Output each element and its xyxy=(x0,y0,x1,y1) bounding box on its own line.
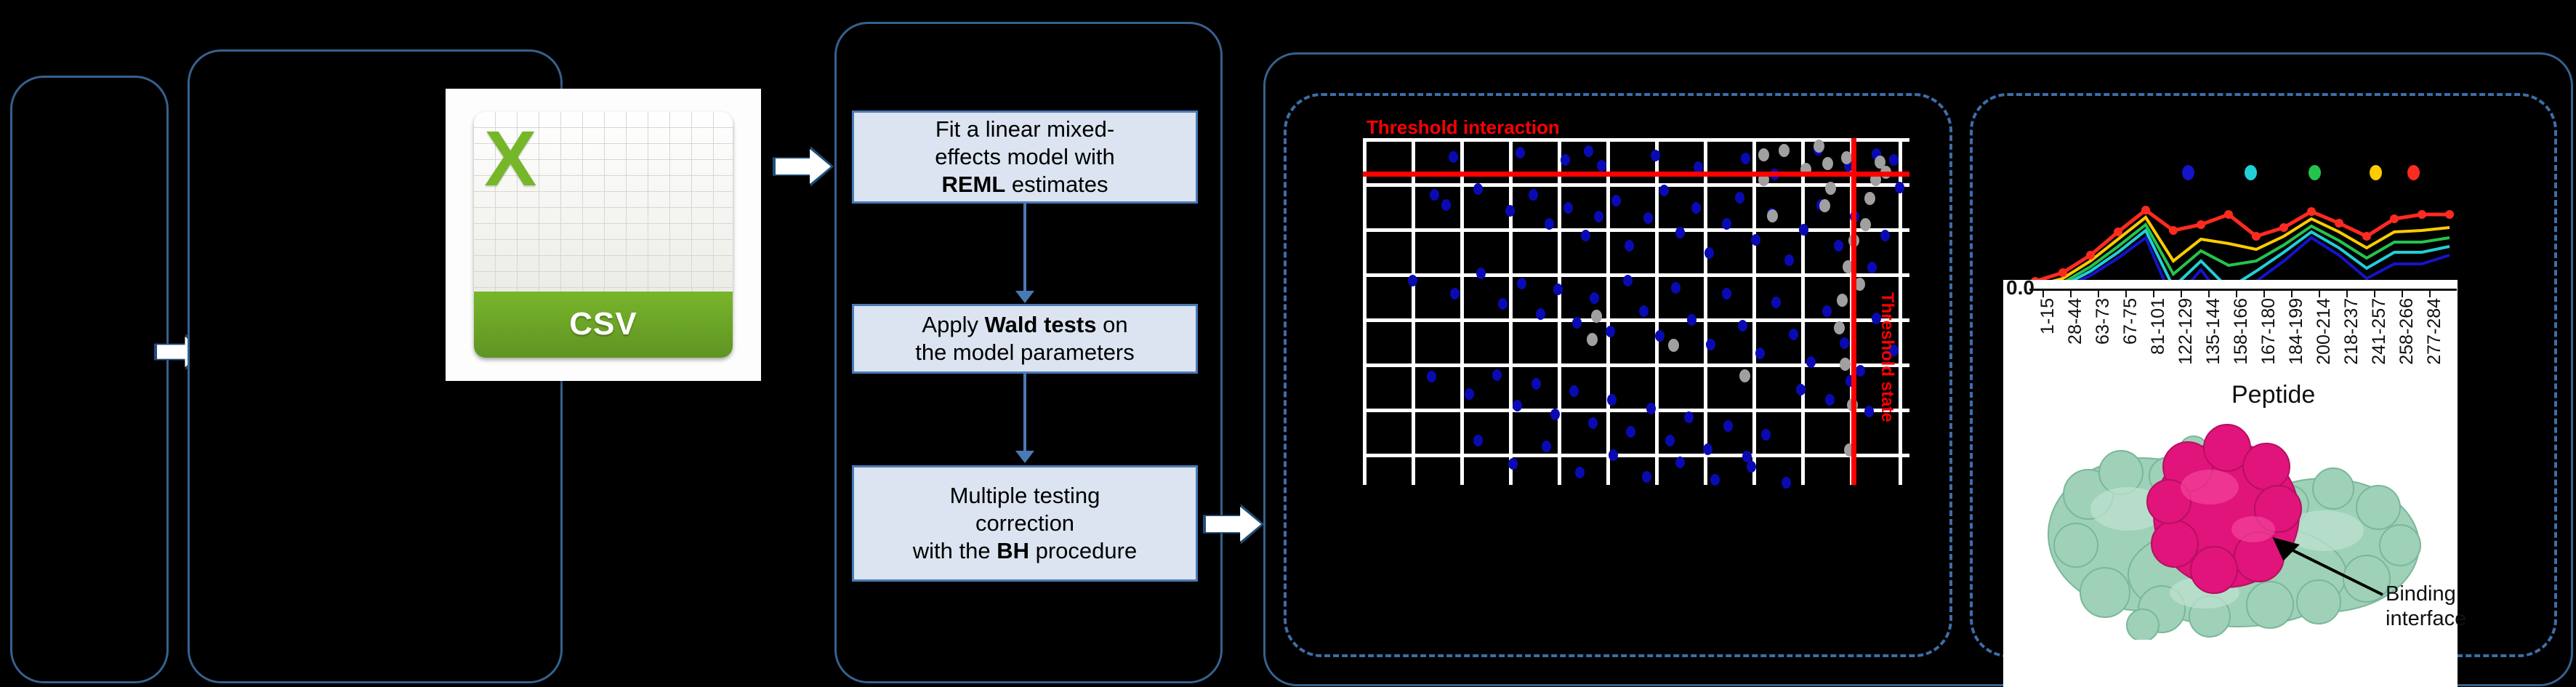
step-bh-line2: correction xyxy=(975,510,1074,536)
data-point xyxy=(1450,288,1460,300)
y-axis-zero-tick: 0.0 xyxy=(2006,276,2034,300)
data-point xyxy=(1755,347,1765,359)
data-point xyxy=(1563,202,1573,214)
axis-tick xyxy=(2402,289,2403,297)
peptide-tick-label: 28-44 xyxy=(2065,298,2086,345)
data-point xyxy=(1747,461,1756,473)
data-point xyxy=(1606,326,1615,337)
data-point xyxy=(1575,467,1585,478)
data-point xyxy=(1834,240,1843,252)
data-point-significant xyxy=(1591,310,1602,323)
data-point xyxy=(1771,297,1781,308)
data-point xyxy=(1517,278,1526,289)
peptide-tick-label: 135-144 xyxy=(2203,298,2224,365)
data-point xyxy=(1706,339,1715,350)
data-point-significant xyxy=(1840,358,1851,371)
data-point xyxy=(1784,254,1794,266)
axis-tick xyxy=(2236,289,2237,297)
data-point-significant xyxy=(1587,333,1598,346)
data-point xyxy=(1782,477,1791,489)
data-point xyxy=(1659,185,1669,196)
peptide-tick-label: 277-284 xyxy=(2424,298,2445,365)
legend-dot-4 xyxy=(2370,165,2382,180)
binding-interface-line2: interface xyxy=(2386,607,2466,630)
data-point xyxy=(1572,317,1582,329)
data-point-significant xyxy=(1837,294,1848,307)
step-bh-bold: BH xyxy=(997,538,1029,563)
data-point xyxy=(1626,426,1635,438)
data-point xyxy=(1473,183,1483,195)
axis-tick xyxy=(2208,289,2210,297)
data-point xyxy=(1542,441,1551,452)
data-point xyxy=(1561,154,1570,166)
data-point-significant xyxy=(1819,199,1830,212)
data-point xyxy=(1529,189,1538,201)
data-point xyxy=(1516,147,1525,158)
data-point xyxy=(1806,356,1816,368)
peptide-tick-label: 167-180 xyxy=(2258,298,2279,365)
axis-tick xyxy=(2070,289,2072,297)
data-point xyxy=(1449,151,1458,163)
axis-tick xyxy=(2319,289,2320,297)
data-point xyxy=(1867,262,1877,273)
input-stage xyxy=(10,76,169,683)
step-bh-line1: Multiple testing xyxy=(950,483,1100,508)
data-point xyxy=(1675,227,1685,238)
csv-format-band: CSV xyxy=(474,292,733,358)
data-point xyxy=(1889,154,1899,166)
peptide-tick-label: 200-214 xyxy=(2314,298,2335,365)
data-point xyxy=(1789,329,1798,340)
data-point xyxy=(1735,192,1744,204)
data-point xyxy=(1594,211,1603,222)
data-point xyxy=(1473,435,1483,446)
csv-file-icon: X CSV xyxy=(446,89,761,381)
data-point xyxy=(1741,153,1750,164)
data-point-significant xyxy=(1758,148,1769,161)
data-point-significant xyxy=(1767,209,1778,222)
binding-interface-label: Binding interface xyxy=(2386,582,2466,631)
step-wald-line2: the model parameters xyxy=(915,340,1135,365)
data-point xyxy=(1408,275,1417,286)
csv-format-label: CSV xyxy=(569,306,637,342)
data-point xyxy=(1671,282,1681,294)
data-point-significant xyxy=(1841,151,1852,164)
data-point-significant xyxy=(1834,321,1845,334)
data-point xyxy=(1796,384,1806,395)
data-point xyxy=(1687,314,1696,326)
peptide-tick-label: 158-166 xyxy=(2231,298,2252,365)
data-point-significant xyxy=(1668,339,1679,352)
data-point xyxy=(1581,230,1590,241)
peptide-tick-label: 241-257 xyxy=(2369,298,2390,365)
step-wald[interactable]: Apply Wald tests on the model parameters xyxy=(852,304,1198,374)
data-point xyxy=(1722,218,1731,230)
legend-dot-5 xyxy=(2407,165,2420,180)
threshold-interaction-line xyxy=(1363,172,1909,177)
axis-tick xyxy=(2429,289,2431,297)
data-point xyxy=(1508,458,1518,470)
data-point xyxy=(1590,292,1599,304)
data-point-significant xyxy=(1739,369,1750,382)
threshold-state-label: Threshold state xyxy=(1877,292,1897,422)
connector-model-to-wald xyxy=(1023,204,1026,297)
axis-tick xyxy=(2153,289,2154,297)
axis-tick xyxy=(2346,289,2348,297)
data-point xyxy=(1722,288,1731,300)
step-bh-line3: with the xyxy=(913,538,997,563)
axis-tick xyxy=(2125,289,2127,297)
peptide-tick-label: 81-101 xyxy=(2148,298,2169,355)
data-point xyxy=(1825,394,1835,406)
step-bh-line4: procedure xyxy=(1029,538,1137,563)
data-point xyxy=(1665,435,1675,446)
data-point-significant xyxy=(1864,192,1875,205)
peptide-tick-label: 67-75 xyxy=(2120,298,2141,345)
data-point xyxy=(1880,230,1890,241)
data-point xyxy=(1691,202,1701,214)
step-bh-text: Multiple testing correction with the BH … xyxy=(913,482,1137,564)
data-point xyxy=(1441,199,1451,211)
binding-interface-line1: Binding xyxy=(2386,582,2456,606)
data-point xyxy=(1427,371,1436,382)
peptide-tick-label: 1-15 xyxy=(2037,298,2058,334)
step-wald-on: on xyxy=(1096,312,1127,337)
data-point xyxy=(1584,145,1593,157)
step-model-line2: effects model with xyxy=(935,144,1115,169)
data-point xyxy=(1799,224,1808,236)
legend-dot-2 xyxy=(2245,165,2257,180)
step-model-text: Fit a linear mixed- effects model with R… xyxy=(935,116,1115,198)
data-point xyxy=(1513,400,1522,411)
data-point-significant xyxy=(1814,140,1824,153)
data-point xyxy=(1642,471,1651,483)
arrow-model-to-results xyxy=(1203,503,1264,545)
data-point xyxy=(1651,150,1660,161)
peptide-x-axis xyxy=(2029,289,2457,291)
axis-tick xyxy=(2263,289,2265,297)
data-point xyxy=(1895,182,1904,193)
peptide-tick-label: 63-73 xyxy=(2093,298,2114,345)
arrow-body xyxy=(1206,506,1261,542)
data-point xyxy=(1738,320,1747,332)
connector-arrowhead-bh xyxy=(1015,451,1034,463)
data-point xyxy=(1553,284,1563,295)
data-point xyxy=(1703,443,1712,455)
data-point xyxy=(1684,411,1694,423)
data-point xyxy=(1465,388,1474,400)
data-point xyxy=(1646,403,1656,414)
data-point xyxy=(1476,268,1486,279)
step-model-reml: REML xyxy=(941,172,1005,197)
data-point xyxy=(1856,365,1865,377)
data-point xyxy=(1704,247,1714,259)
arrow-body xyxy=(776,148,831,185)
data-point xyxy=(1492,369,1502,381)
data-point xyxy=(1607,394,1617,406)
data-point xyxy=(1569,385,1579,397)
excel-x-icon: X xyxy=(484,122,536,194)
data-point-significant xyxy=(1825,182,1836,195)
threshold-state-line xyxy=(1851,138,1856,485)
connector-arrowhead-wald xyxy=(1015,291,1034,303)
data-point xyxy=(1498,298,1508,310)
data-point xyxy=(1505,205,1515,217)
step-wald-bold: Wald tests xyxy=(985,312,1097,337)
axis-tick xyxy=(2374,289,2375,297)
legend-dot-3 xyxy=(2309,165,2321,180)
data-point-significant xyxy=(1860,218,1871,231)
data-point xyxy=(1710,474,1720,486)
data-point xyxy=(1430,189,1439,201)
data-point xyxy=(1643,212,1653,224)
threshold-interaction-label: Threshold interaction xyxy=(1367,116,1560,139)
csv-tile: X CSV xyxy=(474,112,733,358)
data-point xyxy=(1623,275,1633,286)
data-point xyxy=(1822,305,1832,317)
volcano-plot xyxy=(1363,138,1909,485)
data-point xyxy=(1588,417,1598,429)
data-point xyxy=(1675,457,1685,468)
axis-tick xyxy=(2042,289,2044,297)
data-point xyxy=(1531,378,1541,390)
axis-tick xyxy=(2291,289,2293,297)
data-point xyxy=(1761,429,1771,441)
data-point xyxy=(1597,160,1606,172)
data-point xyxy=(1723,420,1733,432)
step-bh[interactable]: Multiple testing correction with the BH … xyxy=(852,465,1198,582)
data-point xyxy=(1751,234,1760,246)
step-model-line1: Fit a linear mixed- xyxy=(935,116,1114,142)
data-point xyxy=(1611,195,1621,206)
data-point-significant xyxy=(1779,144,1790,157)
step-wald-prefix: Apply xyxy=(922,312,984,337)
peptide-tick-label: 258-266 xyxy=(2396,298,2418,365)
connector-wald-to-bh xyxy=(1023,374,1026,455)
data-point-significant xyxy=(1822,157,1833,170)
data-point xyxy=(1864,406,1874,417)
peptide-tick-label: 122-129 xyxy=(2175,298,2197,365)
step-model[interactable]: Fit a linear mixed- effects model with R… xyxy=(852,111,1198,204)
data-point xyxy=(1609,449,1618,461)
axis-tick xyxy=(2181,289,2182,297)
step-wald-text: Apply Wald tests on the model parameters xyxy=(915,311,1135,366)
peptide-tick-label: 218-237 xyxy=(2341,298,2362,365)
peptide-axis-title: Peptide xyxy=(2231,381,2315,409)
data-point xyxy=(1840,337,1849,349)
data-point xyxy=(1536,308,1545,320)
data-point xyxy=(1545,218,1554,230)
data-point xyxy=(1625,240,1634,252)
axis-tick xyxy=(2098,289,2099,297)
legend-dot-1 xyxy=(2182,165,2194,180)
arrow-data-to-model xyxy=(773,145,834,188)
peptide-tick-label: 184-199 xyxy=(2286,298,2307,365)
data-point xyxy=(1550,409,1560,420)
data-point xyxy=(1655,330,1665,342)
data-point xyxy=(1639,305,1649,317)
step-model-line3: estimates xyxy=(1005,172,1108,197)
